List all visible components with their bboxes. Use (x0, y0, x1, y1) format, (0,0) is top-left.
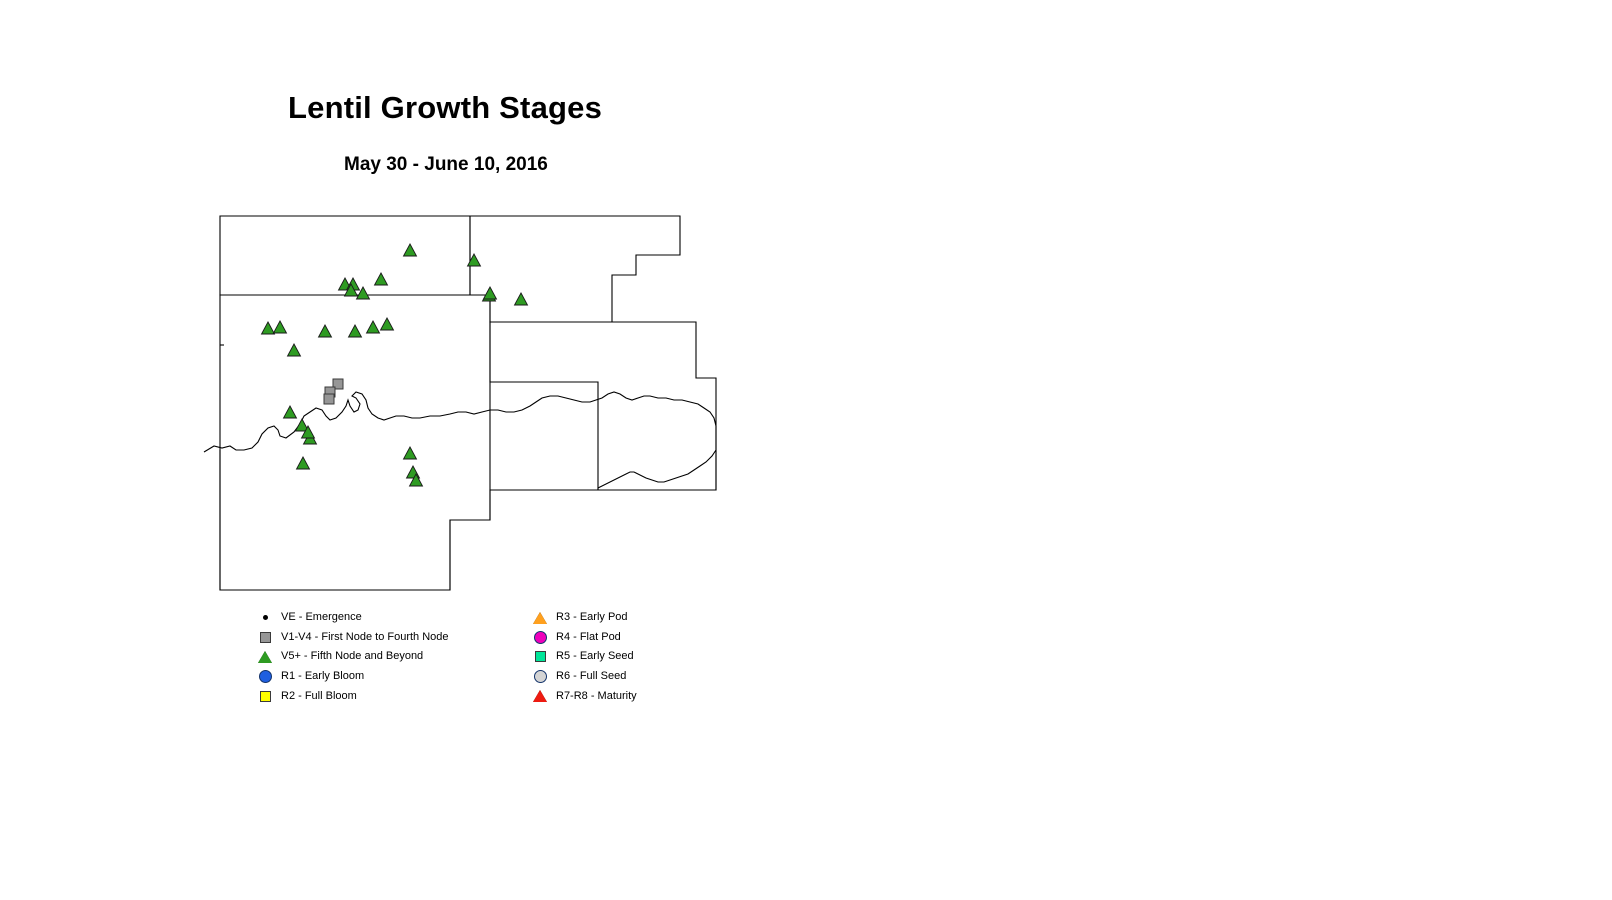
legend-circle-icon (530, 628, 550, 647)
map-marker-triangle[interactable] (274, 321, 287, 333)
map-marker-triangle[interactable] (297, 457, 310, 469)
map-marker-triangle[interactable] (484, 287, 497, 299)
map-marker-triangle[interactable] (349, 325, 362, 337)
legend-item-label: R3 - Early Pod (556, 612, 628, 623)
legend-square-icon (530, 647, 550, 666)
legend-column-left: VE - EmergenceV1-V4 - First Node to Four… (255, 608, 515, 706)
region-map[interactable] (200, 200, 760, 620)
legend-item-label: R2 - Full Bloom (281, 691, 357, 702)
map-marker-triangle[interactable] (262, 322, 275, 334)
boundary-river (204, 392, 716, 452)
legend-symbol-swatch (533, 612, 547, 624)
page-title: Lentil Growth Stages (288, 90, 602, 126)
legend-symbol-swatch (263, 615, 268, 620)
map-markers[interactable] (262, 244, 528, 486)
legend-symbol-swatch (534, 631, 547, 644)
map-marker-triangle[interactable] (381, 318, 394, 330)
legend-item-label: VE - Emergence (281, 612, 362, 623)
boundary-southeast-block (598, 450, 716, 490)
map-marker-triangle[interactable] (367, 321, 380, 333)
legend-item[interactable]: R1 - Early Bloom (255, 667, 515, 687)
map-marker-triangle[interactable] (288, 344, 301, 356)
legend-item[interactable]: V5+ - Fifth Node and Beyond (255, 647, 515, 667)
legend-circle-icon (530, 667, 550, 686)
legend-item-label: R7-R8 - Maturity (556, 691, 637, 702)
legend-column-right: R3 - Early PodR4 - Flat PodR5 - Early Se… (530, 608, 675, 706)
map-marker-triangle[interactable] (404, 244, 417, 256)
legend-item[interactable]: VE - Emergence (255, 608, 515, 628)
map-boundaries (204, 216, 716, 590)
legend-item[interactable]: R4 - Flat Pod (530, 628, 675, 648)
legend-item-label: R5 - Early Seed (556, 651, 634, 662)
legend-circle-icon (255, 667, 275, 686)
map-marker-triangle[interactable] (284, 406, 297, 418)
boundary-east-block (490, 322, 716, 490)
legend-square-icon (255, 687, 275, 706)
legend-symbol-swatch (260, 691, 271, 702)
legend-item-label: R6 - Full Seed (556, 671, 626, 682)
legend-item[interactable]: V1-V4 - First Node to Fourth Node (255, 628, 515, 648)
legend-triangle-icon (255, 647, 275, 666)
map-marker-triangle[interactable] (404, 447, 417, 459)
legend-square-icon (255, 628, 275, 647)
legend-item[interactable]: R3 - Early Pod (530, 608, 675, 628)
legend-item[interactable]: R7-R8 - Maturity (530, 686, 675, 706)
boundary-south-region (220, 490, 598, 590)
map-page: Lentil Growth Stages May 30 - June 10, 2… (0, 0, 1612, 900)
legend-triangle-icon (530, 687, 550, 706)
legend-triangle-icon (530, 608, 550, 627)
legend-item-label: R4 - Flat Pod (556, 632, 621, 643)
map-marker-square[interactable] (324, 394, 334, 404)
legend-symbol-swatch (260, 632, 271, 643)
boundary-river-south (598, 426, 716, 490)
legend-item[interactable]: R2 - Full Bloom (255, 686, 515, 706)
legend-symbol-swatch (258, 651, 272, 663)
page-subtitle: May 30 - June 10, 2016 (344, 154, 548, 176)
legend-item-label: V1-V4 - First Node to Fourth Node (281, 632, 449, 643)
map-panel[interactable] (200, 200, 760, 620)
legend-item-label: V5+ - Fifth Node and Beyond (281, 651, 423, 662)
legend-dot-icon (255, 608, 275, 627)
map-marker-triangle[interactable] (515, 293, 528, 305)
legend-symbol-swatch (259, 670, 272, 683)
map-marker-triangle[interactable] (319, 325, 332, 337)
map-legend: VE - EmergenceV1-V4 - First Node to Four… (255, 608, 675, 720)
map-marker-triangle[interactable] (375, 273, 388, 285)
legend-item[interactable]: R6 - Full Seed (530, 667, 675, 687)
legend-item[interactable]: R5 - Early Seed (530, 647, 675, 667)
legend-symbol-swatch (534, 670, 547, 683)
legend-symbol-swatch (533, 690, 547, 702)
boundary-northeast-block (470, 216, 680, 322)
legend-symbol-swatch (535, 651, 546, 662)
legend-item-label: R1 - Early Bloom (281, 671, 364, 682)
